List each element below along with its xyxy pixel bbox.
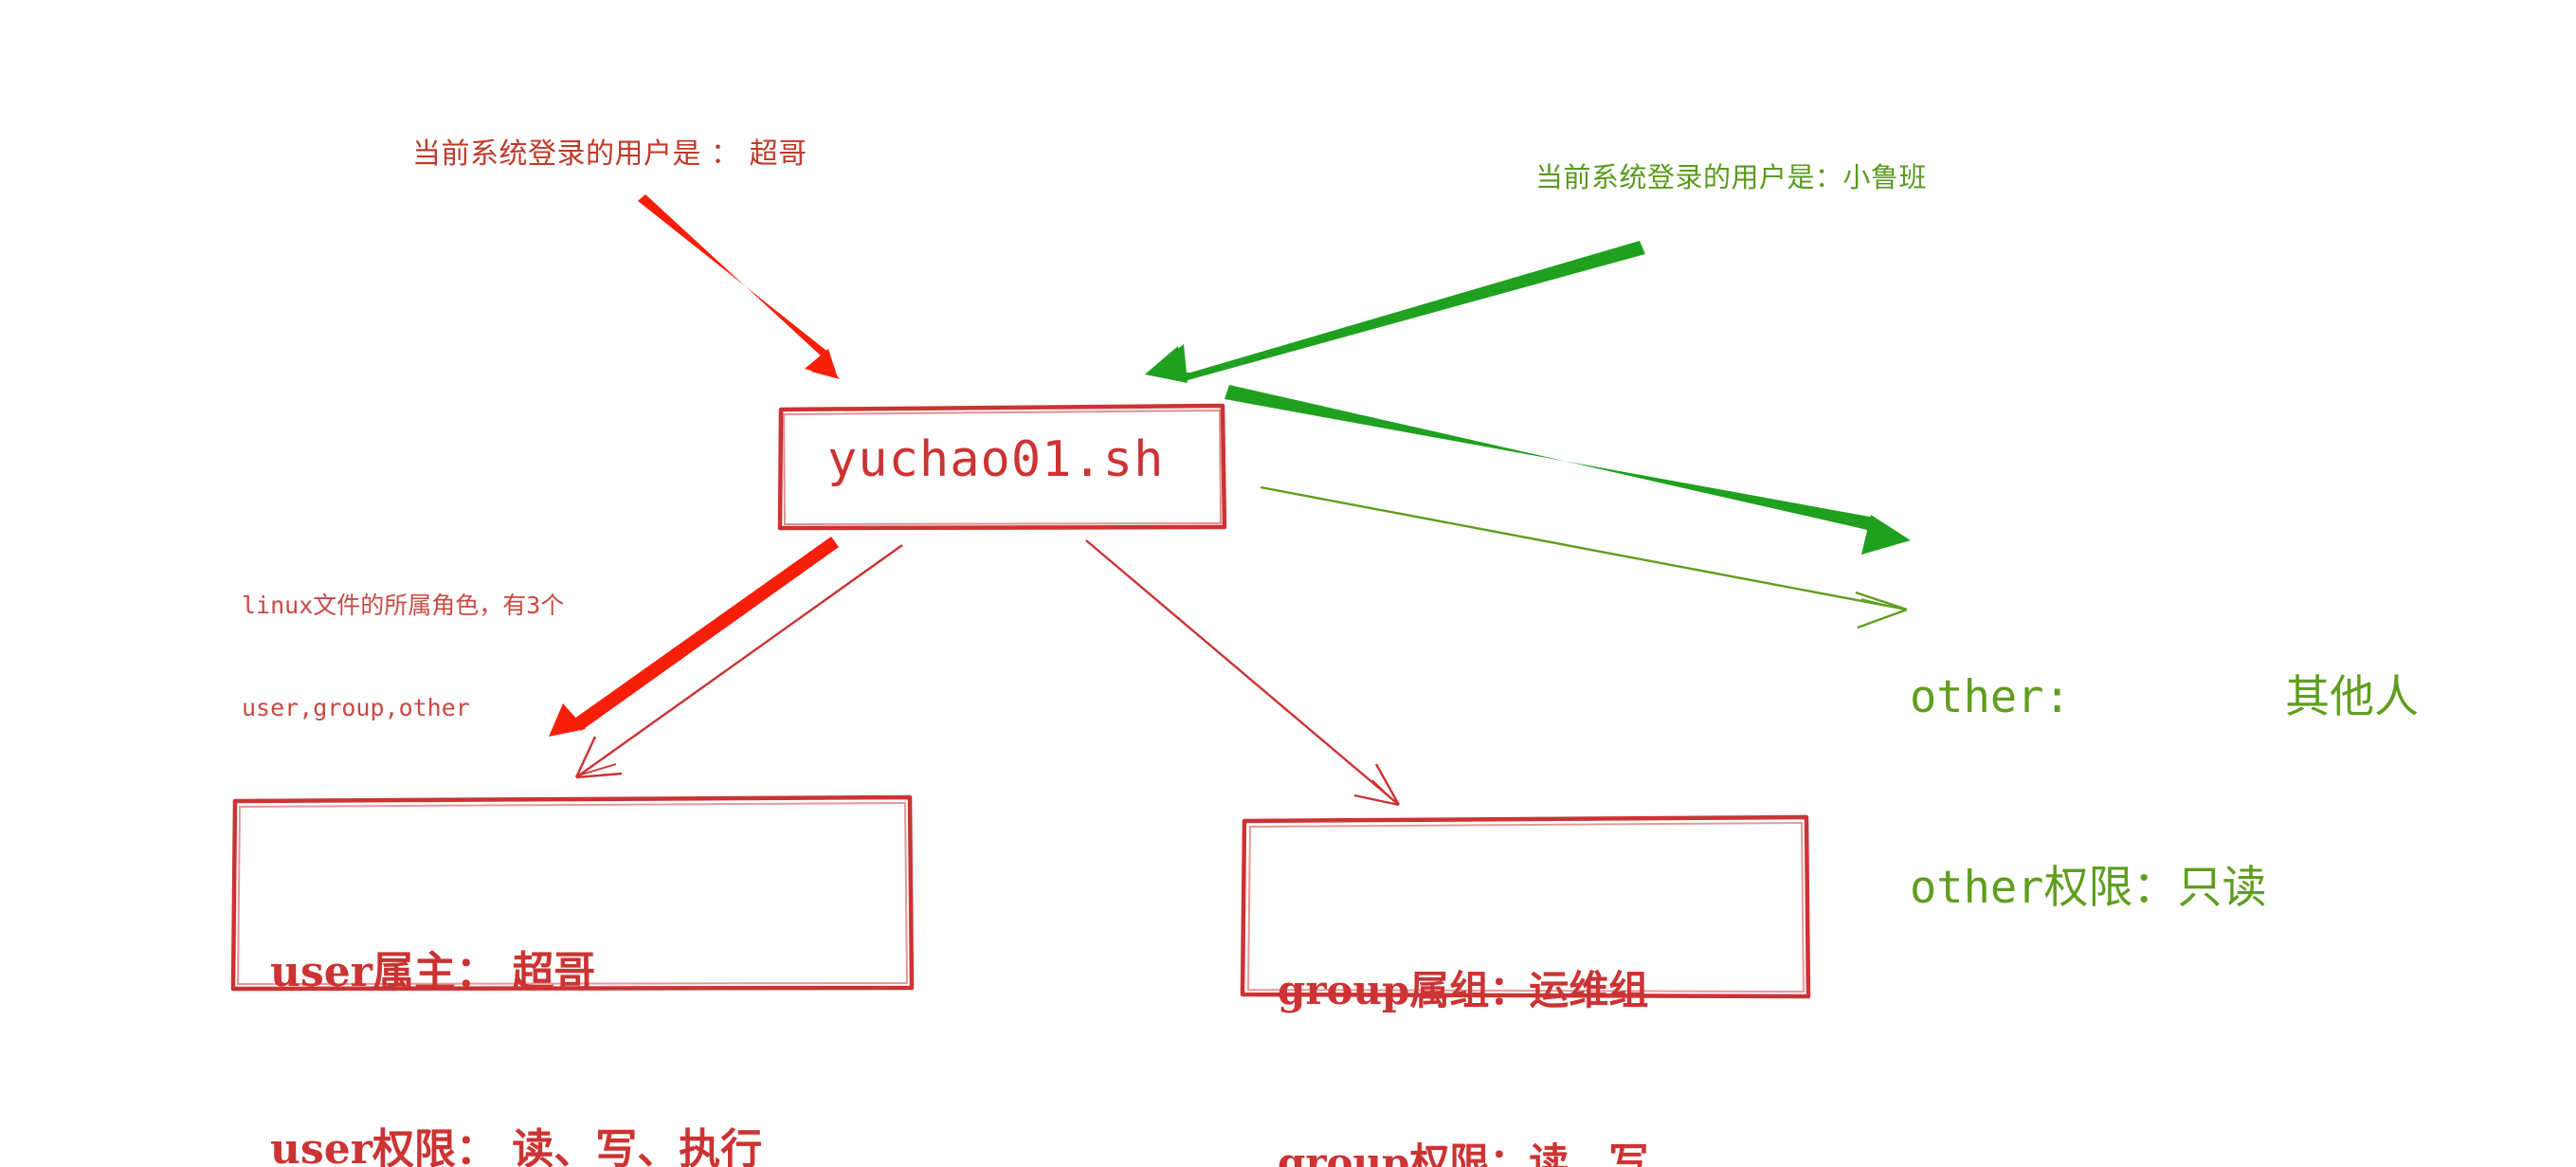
arrow-red-thin-to-user: [576, 545, 902, 777]
annotation-red-current-user: 当前系统登录的用户是 ： 超哥: [412, 137, 807, 171]
arrow-green-thick-to-other: [1225, 385, 1911, 555]
diagram-canvas: 当前系统登录的用户是 ： 超哥 当前系统登录的用户是：小鲁班 yuchao01.…: [0, 0, 2576, 1167]
other-block-content: other: 其他人 other权限：只读: [1910, 540, 2419, 1047]
arrow-red-thin-to-group: [1086, 540, 1399, 805]
arrow-green-login-to-file: [1145, 241, 1645, 383]
file-name-label: yuchao01.sh: [827, 431, 1164, 489]
group-permission-line: group权限：读、写: [1278, 1135, 1648, 1167]
user-box-content: user属主： 超哥 user权限： 读、写、执行: [270, 825, 762, 1167]
other-permission-line: other权限：只读: [1910, 857, 2419, 921]
annotation-roles-note-line2: user,group,other: [242, 691, 564, 725]
annotation-roles-note-line1: linux文件的所属角色，有3个: [242, 589, 564, 623]
annotation-roles-note: linux文件的所属角色，有3个 user,group,other: [242, 520, 564, 794]
group-box-content: group属组：运维组 group权限：读、写: [1278, 847, 1648, 1167]
arrow-red-roles-to-user: [549, 537, 839, 737]
user-owner-line: user属主： 超哥: [270, 943, 762, 1002]
annotation-green-current-user: 当前系统登录的用户是：小鲁班: [1535, 161, 1927, 193]
user-permission-line: user权限： 读、写、执行: [270, 1121, 762, 1167]
arrow-red-login-to-file: [638, 194, 840, 379]
group-owner-line: group属组：运维组: [1278, 962, 1648, 1020]
other-role-line: other: 其他人: [1910, 666, 2419, 730]
